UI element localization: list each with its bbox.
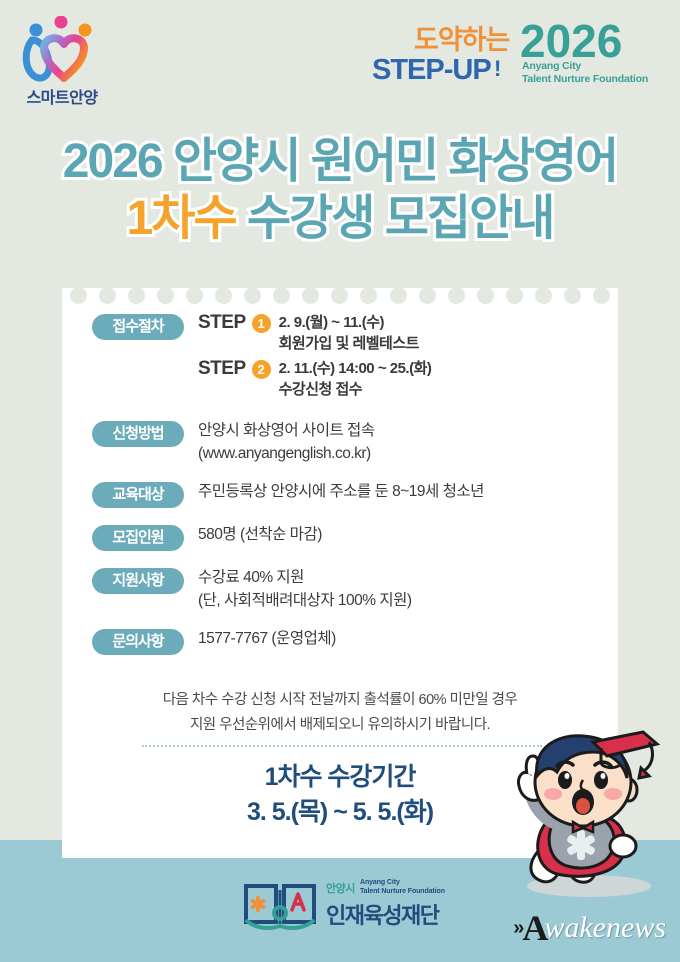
row-label-apply-method: 신청방법 — [92, 421, 184, 447]
foundation-city-kr: 안양시 — [326, 880, 355, 896]
notch — [564, 287, 581, 304]
notch — [477, 287, 494, 304]
foundation-logo: 안양시 Anyang City Talent Nurture Foundatio… — [240, 876, 450, 932]
row-body-target: 주민등록상 안양시에 주소를 둔 8~19세 청소년 — [198, 480, 618, 503]
row-body-capacity: 580명 (선착순 마감) — [198, 523, 618, 546]
capacity-line: 580명 (선착순 마감) — [198, 523, 618, 546]
row-label-support: 지원사항 — [92, 568, 184, 594]
foundation-en: Anyang City Talent Nurture Foundation — [360, 878, 445, 896]
support-line2: (단, 사회적배려대상자 100% 지원) — [198, 589, 618, 612]
row-label-procedure: 접수절차 — [92, 314, 184, 340]
brand-exclamation: ! — [494, 56, 501, 82]
row-body-contact: 1577-7767 (운영업체) — [198, 627, 618, 650]
dotted-divider — [142, 745, 542, 747]
info-row-procedure: 접수절차 STEP 1 2. 9.(월) ~ 11.(수) 회원가입 및 레벨테… — [62, 312, 618, 404]
contact-phone[interactable]: 1577-7767 — [198, 630, 268, 647]
apply-method-url[interactable]: (www.anyangenglish.co.kr) — [198, 442, 618, 465]
smart-anyang-logo-text: 스마트안양 — [14, 84, 110, 108]
notch — [535, 287, 552, 304]
row-label-capacity: 모집인원 — [92, 525, 184, 551]
foundation-name-kr: 인재육성재단 — [326, 898, 438, 930]
notch — [99, 287, 116, 304]
notch — [390, 287, 407, 304]
notch — [331, 287, 348, 304]
row-label-target: 교육대상 — [92, 482, 184, 508]
brand-subtitle-line1: Anyang City — [522, 60, 648, 73]
info-rows: 접수절차 STEP 1 2. 9.(월) ~ 11.(수) 회원가입 및 레벨테… — [62, 312, 618, 670]
notch — [273, 287, 290, 304]
mascot-icon — [497, 728, 677, 903]
apply-method-line1: 안양시 화상영어 사이트 접속 — [198, 419, 618, 442]
smart-anyang-logo-icon — [14, 16, 110, 86]
notch — [157, 287, 174, 304]
brand-block: 도약하는 STEP-UP ! 2026 Anyang City Talent N… — [372, 18, 662, 94]
foundation-en-line1: Anyang City — [360, 878, 445, 887]
notch — [419, 287, 436, 304]
step-1-badge: 1 — [252, 314, 271, 333]
info-row-apply-method: 신청방법 안양시 화상영어 사이트 접속 (www.anyangenglish.… — [62, 419, 618, 465]
step-2: STEP 2 2. 11.(수) 14:00 ~ 25.(화) 수강신청 접수 — [198, 358, 618, 400]
step-1-label: STEP — [198, 312, 246, 334]
step-1: STEP 1 2. 9.(월) ~ 11.(수) 회원가입 및 레벨테스트 — [198, 312, 618, 354]
brand-subtitle: Anyang City Talent Nurture Foundation — [522, 60, 648, 86]
row-body-apply-method: 안양시 화상영어 사이트 접속 (www.anyangenglish.co.kr… — [198, 419, 618, 465]
open-book-icon — [240, 876, 320, 930]
smart-anyang-logo: 스마트안양 — [14, 16, 110, 106]
step-2-line2: 수강신청 접수 — [279, 379, 432, 400]
awakenews-watermark: » A wakenews — [513, 908, 666, 948]
contact-line: 1577-7767 (운영업체) — [198, 627, 618, 650]
row-body-procedure: STEP 1 2. 9.(월) ~ 11.(수) 회원가입 및 레벨테스트 ST… — [198, 312, 618, 404]
notch — [186, 287, 203, 304]
notch — [506, 287, 523, 304]
card-notch-strip — [62, 282, 618, 304]
foundation-en-line2: Talent Nurture Foundation — [360, 887, 445, 896]
poster-header: 스마트안양 도약하는 STEP-UP ! 2026 Anyang City Ta… — [0, 0, 680, 120]
target-line1: 주민등록상 안양시에 주소를 둔 8~19세 청소년 — [198, 480, 618, 503]
brand-step-up: STEP-UP — [372, 54, 491, 87]
title-line-2: 1차수 수강생 모집안내 — [0, 190, 680, 247]
notice-line-1: 다음 차수 수강 신청 시작 전날까지 출석률이 60% 미만일 경우 — [62, 688, 618, 713]
notch — [448, 287, 465, 304]
mascot-character — [497, 728, 677, 903]
notch — [215, 287, 232, 304]
step-1-line1: 2. 9.(월) ~ 11.(수) — [279, 312, 419, 333]
title-accent: 1차수 — [127, 192, 236, 245]
poster-title: 2026 안양시 원어민 화상영어 1차수 수강생 모집안내 — [0, 133, 680, 247]
watermark-text: wakenews — [544, 913, 666, 943]
step-2-detail: 2. 11.(수) 14:00 ~ 25.(화) 수강신청 접수 — [279, 358, 432, 400]
step-2-label: STEP — [198, 358, 246, 380]
notch — [128, 287, 145, 304]
notch — [593, 287, 610, 304]
notch — [360, 287, 377, 304]
title-line-2-rest: 수강생 모집안내 — [236, 192, 554, 245]
contact-operator: (운영업체) — [268, 630, 336, 647]
row-label-contact: 문의사항 — [92, 629, 184, 655]
info-row-contact: 문의사항 1577-7767 (운영업체) — [62, 627, 618, 655]
notch — [70, 287, 87, 304]
info-row-support: 지원사항 수강료 40% 지원 (단, 사회적배려대상자 100% 지원) — [62, 566, 618, 612]
brand-subtitle-line2: Talent Nurture Foundation — [522, 73, 648, 86]
step-2-badge: 2 — [252, 360, 271, 379]
row-body-support: 수강료 40% 지원 (단, 사회적배려대상자 100% 지원) — [198, 566, 618, 612]
step-2-line1: 2. 11.(수) 14:00 ~ 25.(화) — [279, 358, 432, 379]
title-line-1: 2026 안양시 원어민 화상영어 — [0, 133, 680, 190]
info-row-target: 교육대상 주민등록상 안양시에 주소를 둔 8~19세 청소년 — [62, 480, 618, 508]
poster-root: 스마트안양 도약하는 STEP-UP ! 2026 Anyang City Ta… — [0, 0, 680, 962]
support-line1: 수강료 40% 지원 — [198, 566, 618, 589]
capacity-note: (선착순 마감) — [240, 526, 322, 543]
notch — [302, 287, 319, 304]
notch — [244, 287, 261, 304]
brand-tagline-kr: 도약하는 — [414, 18, 509, 57]
info-row-capacity: 모집인원 580명 (선착순 마감) — [62, 523, 618, 551]
capacity-count: 580명 — [198, 526, 240, 543]
step-1-line2: 회원가입 및 레벨테스트 — [279, 333, 419, 354]
step-1-detail: 2. 9.(월) ~ 11.(수) 회원가입 및 레벨테스트 — [279, 312, 419, 354]
